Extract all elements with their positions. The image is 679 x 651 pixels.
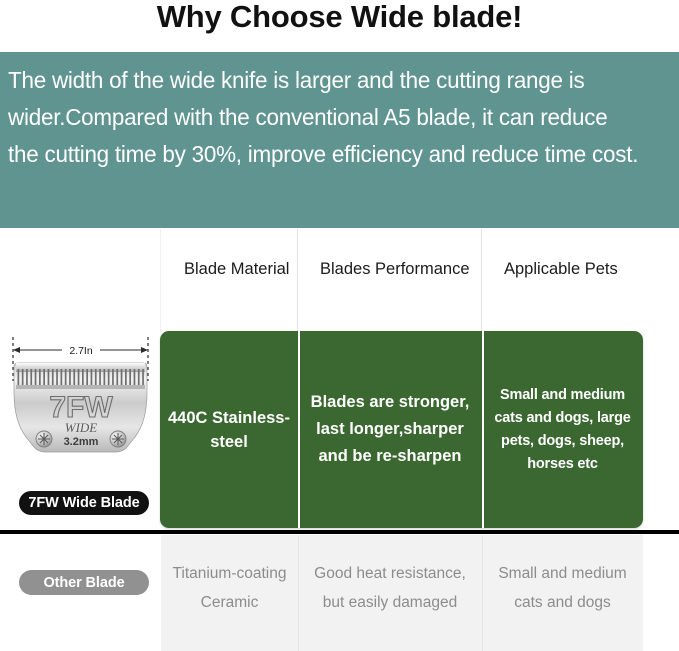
intro-banner: The width of the wide knife is larger an… [0,52,679,228]
blade-width-label: 2.7In [69,345,93,357]
wide-blade-badge: 7FW Wide Blade [19,491,149,515]
page-title: Why Choose Wide blade! [0,0,679,40]
blade-thickness-label: 3.2mm [64,436,99,448]
column-divider-3 [481,229,482,333]
comparison-table: Blade Material Blades Performance Applic… [0,229,679,651]
wide-blade-pets-cell: Small and medium cats and dogs, large pe… [482,331,643,528]
blade-wide-label: WIDE [65,420,98,435]
column-divider-2 [297,229,298,333]
intro-paragraph: The width of the wide knife is larger an… [8,62,641,173]
page-title-region: Why Choose Wide blade! [0,0,679,44]
column-divider-1 [160,229,161,333]
other-blade-material-cell: Titanium-coating Ceramic [161,535,298,651]
other-blade-badge: Other Blade [19,570,149,595]
column-header-blades-performance: Blades Performance [320,256,480,283]
wide-blade-performance-cell: Blades are stronger, last longer,sharper… [298,331,482,528]
table-header-row: Blade Material Blades Performance Applic… [0,229,679,333]
wide-blade-illustration: 2.7In [0,333,160,485]
other-blade-performance-cell: Good heat resistance, but easily damaged [298,535,482,651]
column-header-blade-material: Blade Material [184,256,294,283]
blade-screw-right [110,431,126,447]
column-header-applicable-pets: Applicable Pets [504,256,664,283]
blade-screw-left [36,431,52,447]
wide-blade-material-cell: 440C Stainless-steel [160,331,298,528]
other-blade-pets-cell: Small and medium cats and dogs [482,535,643,651]
other-blade-row: Titanium-coating Ceramic Good heat resis… [161,535,643,651]
wide-blade-row: 440C Stainless-steel Blades are stronger… [160,331,643,528]
section-divider-rule [0,530,679,534]
